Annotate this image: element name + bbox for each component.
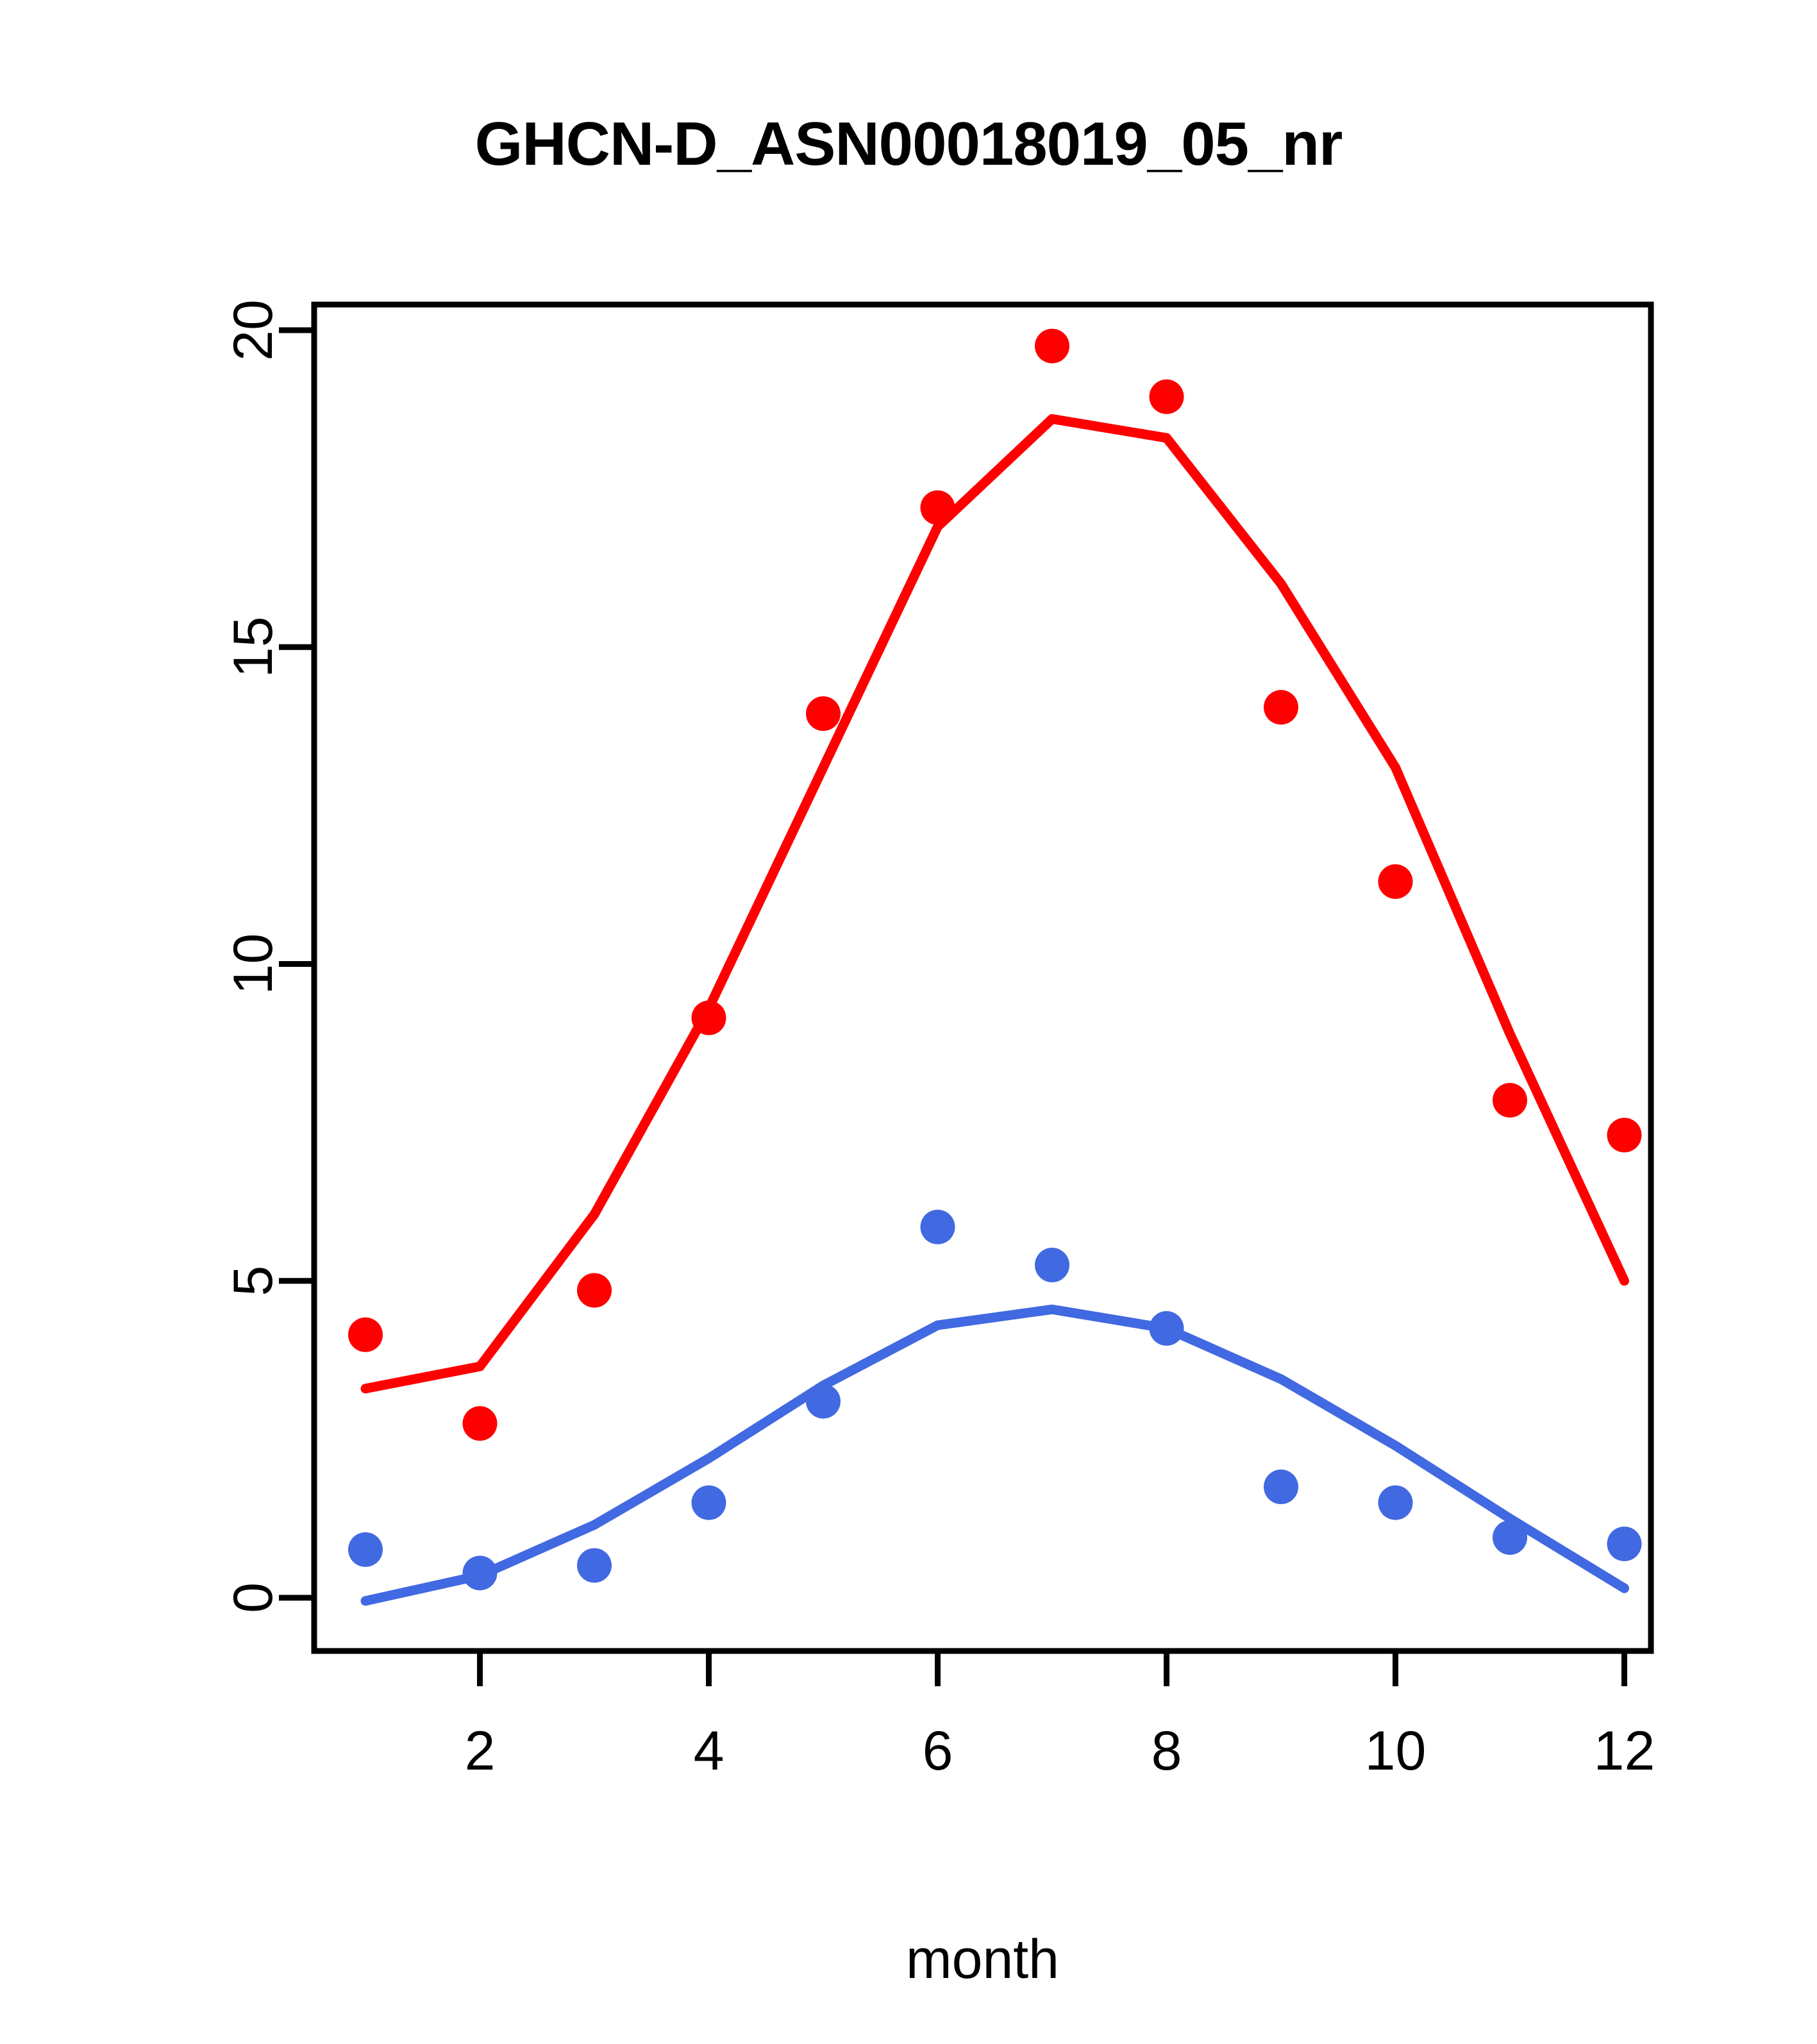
data-point — [1150, 380, 1184, 414]
x-axis-tick-label: 6 — [923, 1720, 953, 1782]
y-axis-tick-label: 10 — [222, 934, 284, 995]
data-point — [1378, 1486, 1413, 1520]
data-point — [348, 1532, 383, 1567]
x-axis-tick-label: 12 — [1594, 1720, 1655, 1782]
data-point — [1493, 1083, 1527, 1118]
data-point — [577, 1548, 612, 1583]
x-axis-tick-label: 8 — [1151, 1720, 1182, 1782]
data-point — [1607, 1527, 1642, 1561]
data-point — [1607, 1118, 1642, 1152]
y-axis-tick-label: 15 — [222, 616, 284, 678]
data-point — [806, 696, 841, 731]
data-point — [577, 1273, 612, 1308]
x-axis-title: month — [906, 1929, 1059, 1990]
data-point — [1035, 1248, 1069, 1282]
plot-frame — [314, 305, 1651, 1651]
data-point — [1264, 1470, 1298, 1504]
y-axis-tick-label: 20 — [222, 299, 284, 361]
chart-page: GHCN-D_ASN00018019_05_nr 051015202468101… — [0, 0, 1817, 2044]
y-axis-tick-label: 0 — [222, 1582, 284, 1613]
series-line-red-fit-line — [365, 419, 1625, 1388]
x-axis-tick-label: 4 — [694, 1720, 724, 1782]
x-axis-tick-label: 10 — [1365, 1720, 1427, 1782]
data-point — [348, 1318, 383, 1352]
y-axis-tick-label: 5 — [222, 1266, 284, 1296]
plot-area: 0510152024681012month — [0, 0, 1817, 2044]
data-point — [1264, 690, 1298, 725]
data-point — [1378, 864, 1413, 899]
data-point — [692, 1486, 726, 1520]
series-line-blue-fit-line — [365, 1309, 1625, 1601]
series-points-blue-points — [348, 1210, 1642, 1591]
data-point — [1035, 329, 1069, 364]
data-point — [463, 1406, 498, 1441]
x-axis-tick-label: 2 — [465, 1720, 496, 1782]
data-point — [921, 1210, 955, 1244]
